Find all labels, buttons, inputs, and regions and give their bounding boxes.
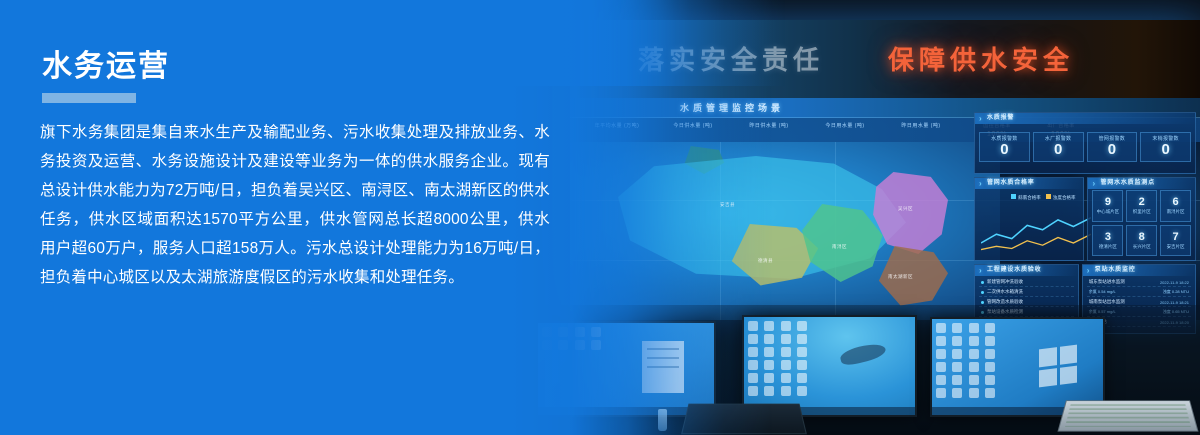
banner-slogan-right: 保障供水安全 [888, 40, 1074, 77]
page-title: 水务运营 [42, 52, 170, 82]
chart-legend: 餘氯合格率 浊度合格率 [1011, 194, 1075, 201]
monitoring-point-tile[interactable]: 6 南浔片区 [1160, 190, 1191, 222]
text-column: 水务运营 旗下水务集团是集自来水生产及输配业务、污水收集处理及排放业务、水务投资… [0, 0, 560, 435]
bullet-icon [981, 301, 984, 304]
monitoring-point-tile[interactable]: 2 织里片区 [1126, 190, 1157, 222]
monitor-document-desktop[interactable] [536, 321, 716, 417]
quality-rate-chart [981, 210, 1091, 254]
document-window [642, 341, 684, 393]
map-region-label: 安吉县 [720, 202, 735, 208]
led-video-wall: 落实安全责任 保障供水安全 水质管理监控场景 年平均水量 (万吨) 今日供水量 … [570, 20, 1200, 320]
map-region-label: 德清县 [758, 258, 773, 264]
windows-logo-icon [1039, 345, 1077, 388]
wall-banner-strip: 落实安全责任 保障供水安全 [570, 20, 1200, 98]
dashboard-title: 水质管理监控场景 [680, 101, 784, 114]
kpi-item: 昨日供水量 (吨) [732, 122, 806, 131]
map-region-label: 吴兴区 [898, 206, 913, 212]
alarm-card[interactable]: 水质报警数 0 [979, 132, 1030, 163]
kpi-item: 昨日用水量 (吨) [884, 122, 958, 131]
hero-banner: 落实安全责任 保障供水安全 水质管理监控场景 年平均水量 (万吨) 今日供水量 … [0, 0, 1200, 435]
operator-desk [510, 305, 1200, 435]
bullet-icon [981, 281, 984, 284]
kpi-item: 今日用水量 (吨) [808, 122, 882, 131]
title-underline-rule [42, 93, 136, 103]
log-row-metrics: 余氯 0.54 mg/L 浊度 0.28 NTU [1087, 287, 1191, 297]
body-paragraph: 旗下水务集团是集自来水生产及输配业务、污水收集处理及排放业务、水务投资及运营、水… [40, 118, 550, 292]
laptop [681, 404, 807, 435]
desktop-icons [748, 321, 810, 396]
monitoring-point-tile[interactable]: 7 安吉片区 [1160, 225, 1191, 257]
water-bottle [658, 409, 667, 431]
bullet-icon [981, 291, 984, 294]
monitoring-point-tile[interactable]: 8 长兴片区 [1126, 225, 1157, 257]
desktop-icons [936, 323, 998, 398]
alarm-card[interactable]: 水厂报警数 0 [1033, 132, 1084, 163]
alarm-card[interactable]: 末梢报警数 0 [1140, 132, 1191, 163]
kpi-item: 年平均水量 (万吨) [580, 122, 654, 131]
monitor-underwater-desktop[interactable] [742, 315, 917, 417]
acceptance-row[interactable]: 二次供水水箱清洗 [979, 287, 1074, 297]
acceptance-row[interactable]: 新建管网冲洗验收 [979, 277, 1074, 287]
diver-silhouette [838, 341, 887, 368]
panel-monitoring-points: 管网水水质监测点 9 中心城片区 2 织里片区 6 南浔片区 [1087, 177, 1196, 261]
banner-slogan-left: 落实安全责任 [638, 40, 824, 77]
map-region-label: 南浔区 [832, 244, 847, 250]
panel-header: 工程建设水质验收 [975, 265, 1078, 276]
panel-pipe-quality-rate: 管网水质合格率 餘氯合格率 浊度合格率 [974, 177, 1084, 261]
panel-water-quality-alarm: 水质报警 水质报警数 0 水厂报警数 0 管网报警数 0 末梢报警数 [974, 112, 1196, 174]
panel-header: 水质报警 [975, 113, 1195, 124]
keyboard [1057, 400, 1198, 431]
log-row[interactable]: 城东泵站进水监测 2022-11-9 18:22 [1087, 277, 1191, 287]
kpi-item: 今日供水量 (吨) [656, 122, 730, 131]
map-region-label: 南太湖新区 [888, 274, 913, 280]
panel-header: 管网水质合格率 [975, 178, 1083, 189]
alarm-card[interactable]: 管网报警数 0 [1087, 132, 1138, 163]
monitoring-point-tile[interactable]: 3 德清片区 [1092, 225, 1123, 257]
control-room-photo: 落实安全责任 保障供水安全 水质管理监控场景 年平均水量 (万吨) 今日供水量 … [510, 0, 1200, 435]
panel-header: 泵站水质监控 [1083, 265, 1195, 276]
panel-header: 管网水水质监测点 [1088, 178, 1195, 189]
monitoring-point-tile[interactable]: 9 中心城片区 [1092, 190, 1123, 222]
